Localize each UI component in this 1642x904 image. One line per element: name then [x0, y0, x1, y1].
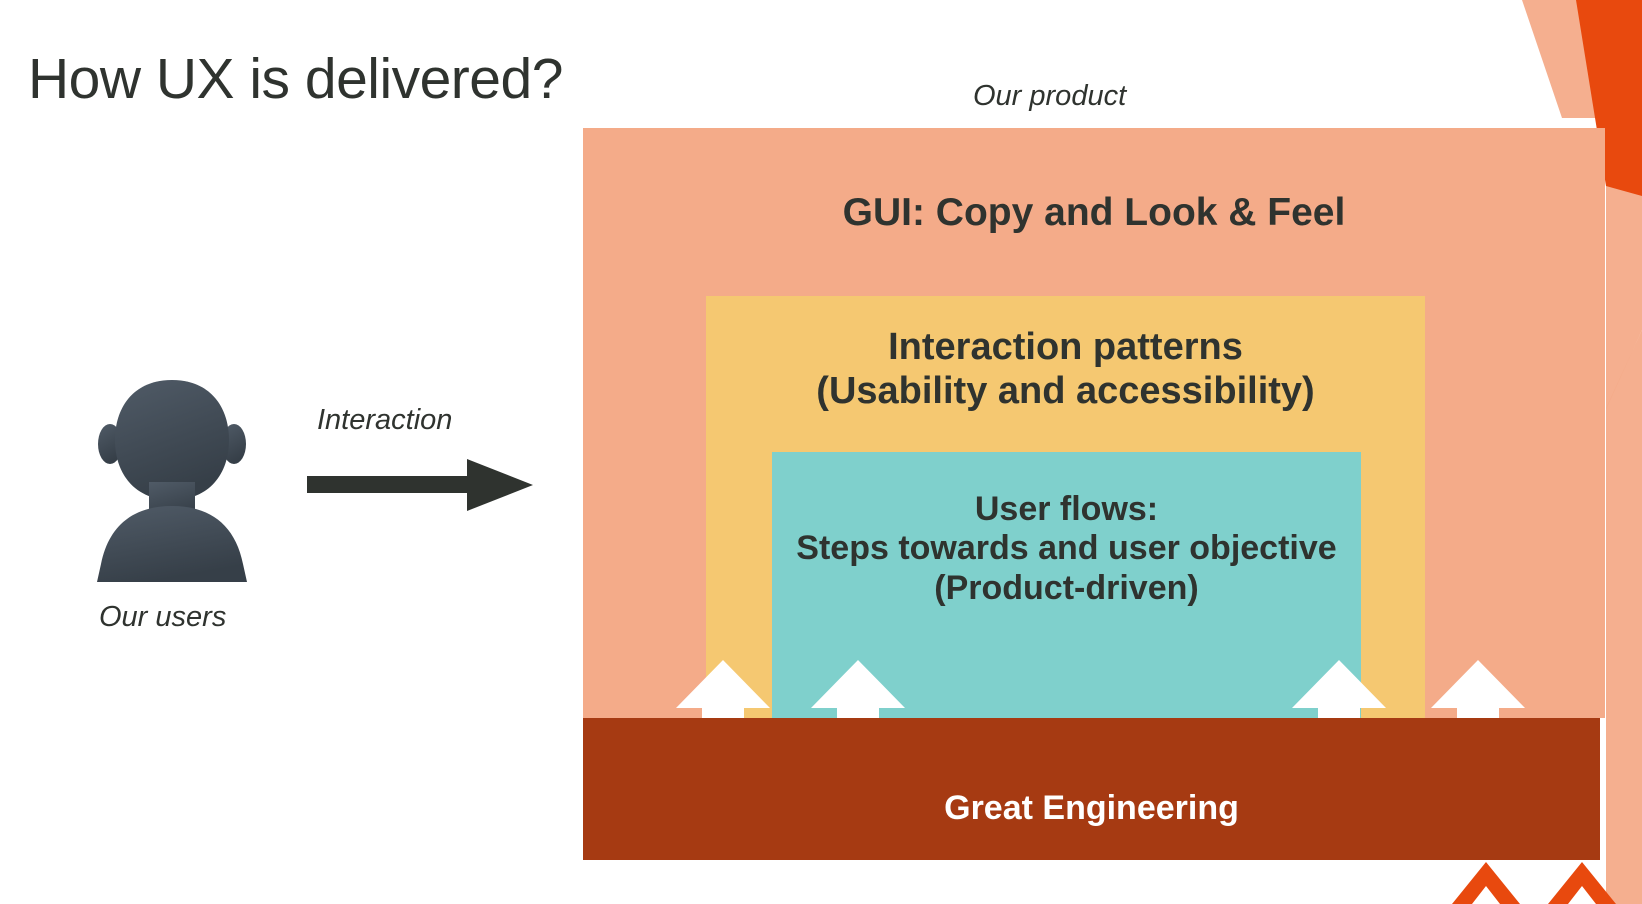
- our-users-label: Our users: [99, 601, 226, 634]
- layer-label-engineering: Great Engineering: [944, 789, 1239, 828]
- slide-canvas: How UX is delivered? Our product Our use…: [0, 0, 1642, 904]
- layer-label-interaction-patterns: Interaction patterns (Usability and acce…: [816, 325, 1314, 413]
- interaction-label: Interaction: [317, 404, 452, 437]
- arrow-right-icon: [307, 455, 535, 515]
- page-title: How UX is delivered?: [28, 46, 563, 112]
- our-product-label: Our product: [973, 80, 1126, 113]
- person-silhouette-icon: [83, 378, 261, 584]
- layer-box-engineering: Great Engineering: [583, 718, 1600, 860]
- layer-label-gui: GUI: Copy and Look & Feel: [843, 190, 1346, 235]
- orange-chevron-right-icon: [1548, 862, 1616, 904]
- peach-diagonal-stripe-lower-icon: [1606, 330, 1642, 904]
- layer-label-user-flows: User flows: Steps towards and user objec…: [796, 490, 1336, 608]
- orange-chevron-left-icon: [1452, 862, 1520, 904]
